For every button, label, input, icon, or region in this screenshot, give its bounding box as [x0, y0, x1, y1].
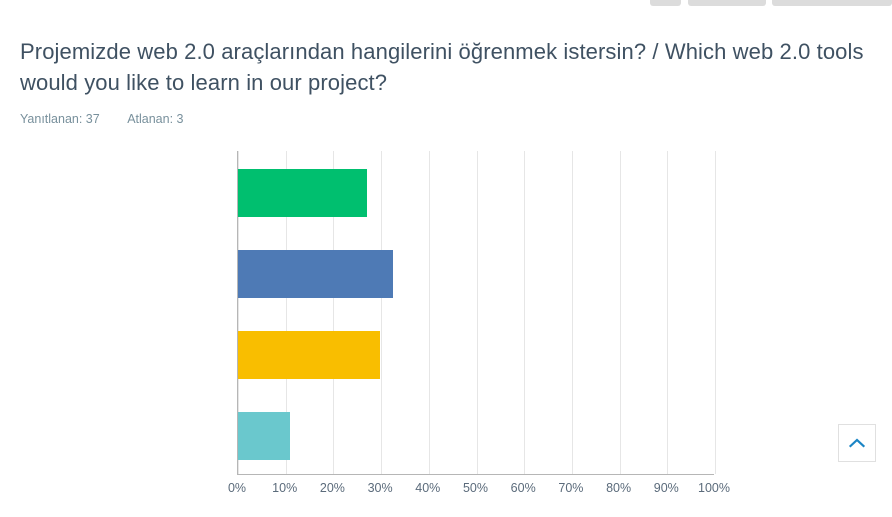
toolbar-chip-2[interactable] [688, 0, 766, 6]
chevron-up-icon [849, 438, 865, 448]
bar-row[interactable] [238, 412, 290, 460]
bar[interactable] [238, 412, 290, 460]
bar[interactable] [238, 169, 367, 217]
toolbar-chip-1[interactable] [650, 0, 681, 6]
x-tick-label: 20% [320, 481, 345, 495]
gridline-100pct [715, 151, 716, 474]
x-tick-label: 50% [463, 481, 488, 495]
x-tick-label: 90% [654, 481, 679, 495]
plot-area: Voki, Chatterpix,...Photogrid, BeFunkyFx… [237, 151, 714, 475]
x-axis-tick-labels: 0%10%20%30%40%50%60%70%80%90%100% [237, 481, 714, 501]
scroll-to-top-button[interactable] [838, 424, 876, 462]
x-tick-label: 30% [368, 481, 393, 495]
question-title: Projemizde web 2.0 araçlarından hangiler… [20, 36, 876, 98]
x-tick-label: 40% [415, 481, 440, 495]
top-toolbar-strip [0, 0, 892, 8]
skipped-count: Atlanan: 3 [127, 112, 183, 126]
bar-row[interactable] [238, 169, 367, 217]
x-tick-label: 70% [558, 481, 583, 495]
x-tick-label: 60% [511, 481, 536, 495]
bar-row[interactable] [238, 250, 393, 298]
x-tick-label: 0% [228, 481, 246, 495]
bar-chart: Voki, Chatterpix,...Photogrid, BeFunkyFx… [0, 145, 892, 505]
x-tick-label: 100% [698, 481, 730, 495]
x-tick-label: 80% [606, 481, 631, 495]
question-block: Projemizde web 2.0 araçlarından hangiler… [20, 36, 876, 126]
x-tick-label: 10% [272, 481, 297, 495]
bar-series: Voki, Chatterpix,...Photogrid, BeFunkyFx… [238, 151, 714, 474]
bar[interactable] [238, 331, 380, 379]
bar-row[interactable] [238, 331, 380, 379]
response-summary: Yanıtlanan: 37 Atlanan: 3 [20, 112, 876, 126]
answered-count: Yanıtlanan: 37 [20, 112, 100, 126]
toolbar-chip-3[interactable] [772, 0, 892, 6]
bar[interactable] [238, 250, 393, 298]
